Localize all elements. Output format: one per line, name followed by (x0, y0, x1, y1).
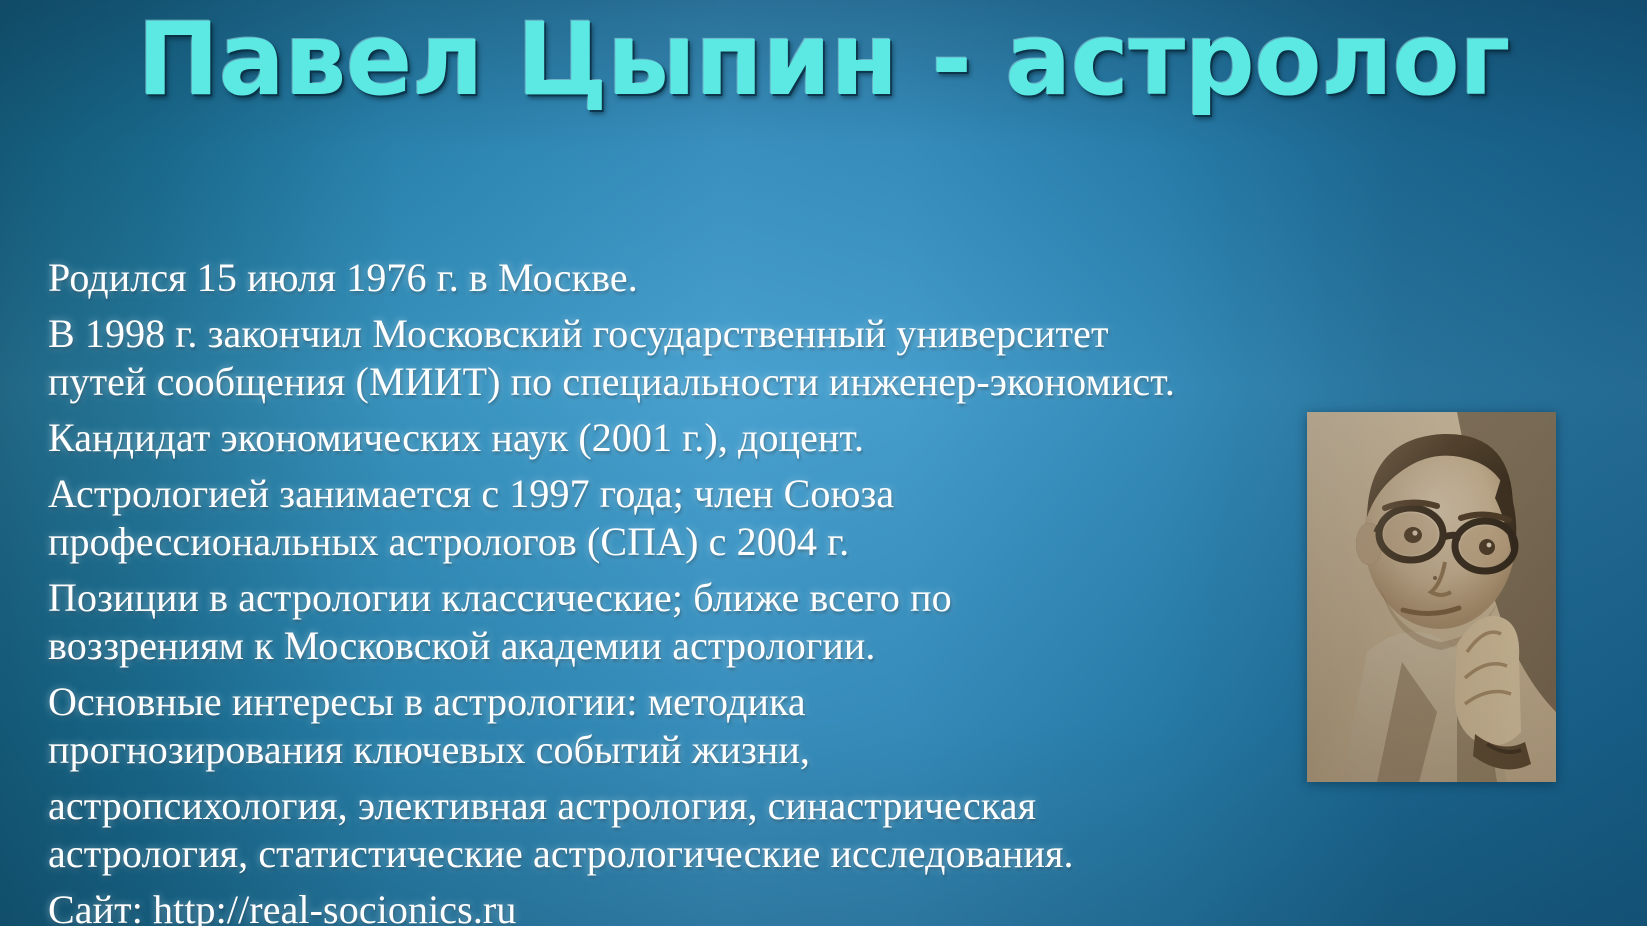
presentation-slide: Павел Цыпин - астролог Родился 15 июля 1… (0, 0, 1647, 926)
page-title: Павел Цыпин - астролог (137, 9, 1510, 110)
text-line: воззрениям к Московской академии астроло… (48, 626, 1518, 666)
text-line: астропсихология, элективная астрология, … (48, 786, 1518, 826)
text-line: профессиональных астрологов (СПА) с 2004… (48, 522, 1518, 562)
website-line[interactable]: Сайт: http://real-socionics.ru (48, 890, 1518, 926)
text-line: В 1998 г. закончил Московский государств… (48, 314, 1518, 354)
biography-text-block: Родился 15 июля 1976 г. в Москве. В 1998… (48, 258, 1518, 926)
title-bar: Павел Цыпин - астролог (0, 0, 1647, 118)
text-line: Родился 15 июля 1976 г. в Москве. (48, 258, 1518, 298)
text-line: Астрологией занимается с 1997 года; член… (48, 474, 1518, 514)
text-line: Основные интересы в астрологии: методика (48, 682, 1518, 722)
portrait-photo-image (1307, 412, 1556, 782)
text-line: прогнозирования ключевых событий жизни, (48, 730, 1518, 770)
text-line: астрология, статистические астрологическ… (48, 834, 1518, 874)
portrait-photo (1307, 412, 1556, 782)
text-line: Позиции в астрологии классические; ближе… (48, 578, 1518, 618)
text-line: путей сообщения (МИИТ) по специальности … (48, 362, 1518, 402)
text-line: Кандидат экономических наук (2001 г.), д… (48, 418, 1518, 458)
